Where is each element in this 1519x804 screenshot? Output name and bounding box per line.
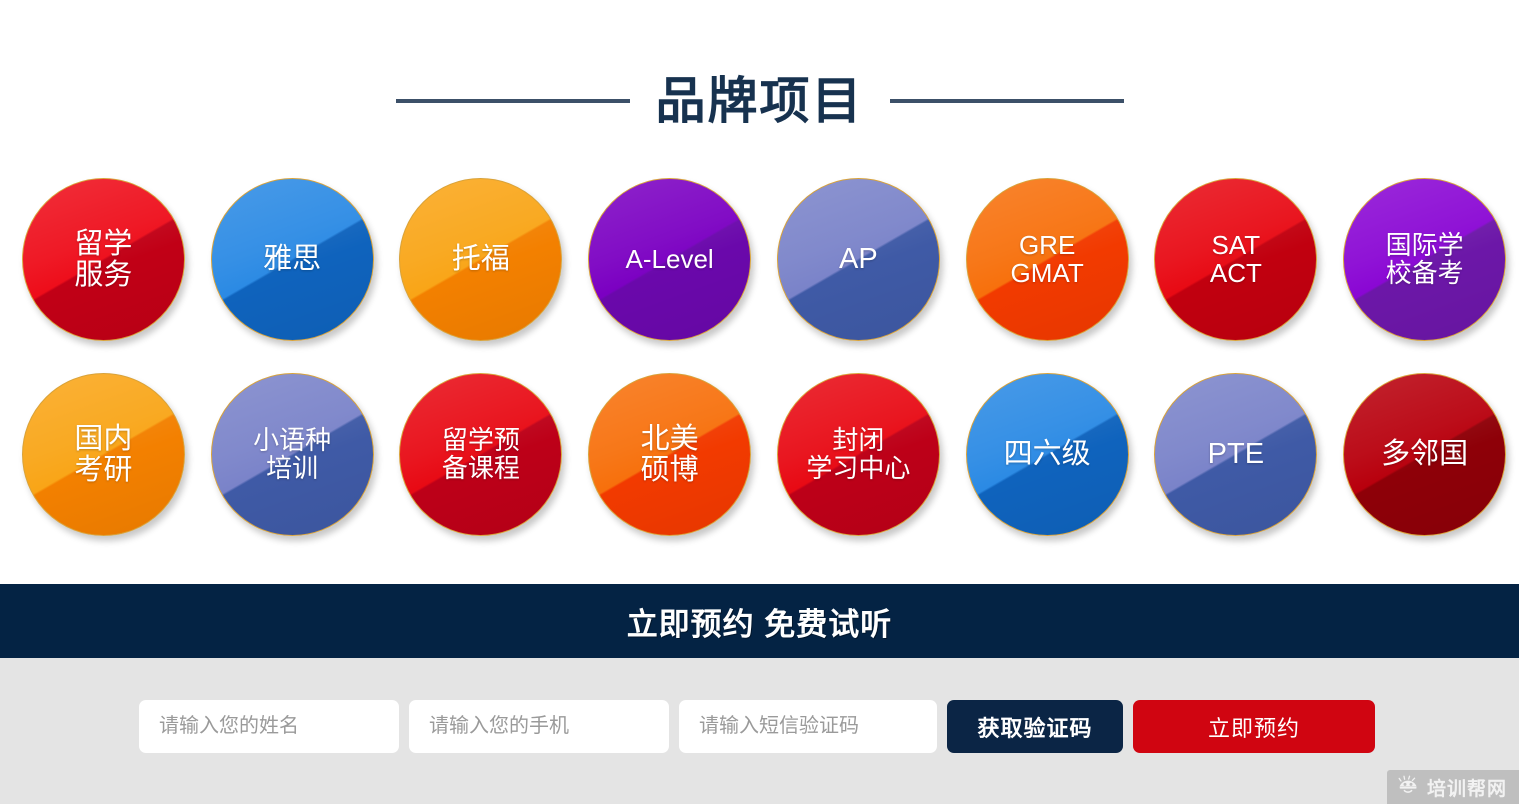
program-bubble[interactable]: 封闭 学习中心 (777, 373, 940, 536)
program-cell: AP (764, 178, 953, 341)
program-bubble[interactable]: 留学预 备课程 (399, 373, 562, 536)
program-bubble-label: 国际学 校备考 (1380, 232, 1470, 286)
program-bubble-label: A-Level (620, 246, 720, 273)
program-bubble-label: 留学 服务 (68, 229, 138, 289)
program-cell: PTE (1142, 373, 1331, 536)
program-bubble[interactable]: 四六级 (966, 373, 1129, 536)
watermark-label: 培训帮网 (1427, 774, 1507, 801)
program-cell: 留学预 备课程 (387, 373, 576, 536)
program-bubble-label: 国内 考研 (68, 424, 138, 484)
submit-booking-button[interactable]: 立即预约 (1133, 700, 1375, 753)
program-cell: 封闭 学习中心 (764, 373, 953, 536)
program-bubble[interactable]: PTE (1154, 373, 1317, 536)
sms-code-input[interactable] (679, 700, 937, 753)
program-cell: 小语种 培训 (198, 373, 387, 536)
program-cell: SAT ACT (1142, 178, 1331, 341)
program-cell: A-Level (575, 178, 764, 341)
cta-banner: 立即预约 免费试听 (0, 584, 1519, 658)
program-bubble[interactable]: AP (777, 178, 940, 341)
page-title: 品牌项目 (656, 76, 864, 126)
sun-face-icon (1397, 774, 1419, 801)
brand-programs-page: 品牌项目 留学 服务雅思托福A-LevelAPGRE GMATSAT ACT国际… (0, 0, 1519, 804)
program-cell: 北美 硕博 (575, 373, 764, 536)
program-grid: 留学 服务雅思托福A-LevelAPGRE GMATSAT ACT国际学 校备考… (0, 178, 1519, 568)
program-row-1: 留学 服务雅思托福A-LevelAPGRE GMATSAT ACT国际学 校备考 (0, 178, 1519, 373)
program-bubble[interactable]: 雅思 (211, 178, 374, 341)
program-bubble[interactable]: 留学 服务 (22, 178, 185, 341)
program-cell: 国内 考研 (9, 373, 198, 536)
program-bubble-label: 多邻国 (1375, 439, 1474, 469)
program-bubble-label: 雅思 (257, 244, 327, 274)
program-cell: 雅思 (198, 178, 387, 341)
program-bubble-label: 托福 (446, 244, 516, 274)
program-bubble-label: GRE GMAT (1005, 232, 1090, 286)
program-bubble[interactable]: GRE GMAT (966, 178, 1129, 341)
program-bubble-label: 北美 硕博 (635, 424, 705, 484)
name-input[interactable] (139, 700, 399, 753)
header-rule-right (890, 99, 1124, 103)
program-row-2: 国内 考研小语种 培训留学预 备课程北美 硕博封闭 学习中心四六级PTE多邻国 (0, 373, 1519, 568)
program-bubble[interactable]: 托福 (399, 178, 562, 341)
program-bubble-label: SAT ACT (1204, 232, 1268, 286)
program-bubble-label: PTE (1202, 439, 1270, 469)
program-bubble[interactable]: SAT ACT (1154, 178, 1317, 341)
phone-input[interactable] (409, 700, 669, 753)
program-bubble[interactable]: A-Level (588, 178, 751, 341)
program-bubble[interactable]: 多邻国 (1343, 373, 1506, 536)
cta-banner-text: 立即预约 免费试听 (627, 599, 893, 644)
program-bubble-label: 四六级 (998, 439, 1097, 469)
header-rule-left (396, 99, 630, 103)
program-cell: GRE GMAT (953, 178, 1142, 341)
program-bubble-label: AP (833, 244, 884, 274)
section-header: 品牌项目 (0, 62, 1519, 140)
program-cell: 多邻国 (1330, 373, 1519, 536)
program-bubble[interactable]: 国际学 校备考 (1343, 178, 1506, 341)
program-bubble[interactable]: 国内 考研 (22, 373, 185, 536)
program-bubble[interactable]: 小语种 培训 (211, 373, 374, 536)
program-bubble-label: 留学预 备课程 (436, 427, 526, 481)
program-cell: 留学 服务 (9, 178, 198, 341)
program-cell: 国际学 校备考 (1330, 178, 1519, 341)
program-cell: 托福 (387, 178, 576, 341)
booking-form-strip: 获取验证码 立即预约 (0, 658, 1519, 804)
get-sms-code-button[interactable]: 获取验证码 (947, 700, 1123, 753)
program-bubble-label: 小语种 培训 (247, 427, 337, 481)
program-bubble-label: 封闭 学习中心 (800, 427, 916, 481)
program-bubble[interactable]: 北美 硕博 (588, 373, 751, 536)
program-cell: 四六级 (953, 373, 1142, 536)
booking-form: 获取验证码 立即预约 (139, 700, 1375, 753)
site-watermark: 培训帮网 (1387, 770, 1519, 804)
